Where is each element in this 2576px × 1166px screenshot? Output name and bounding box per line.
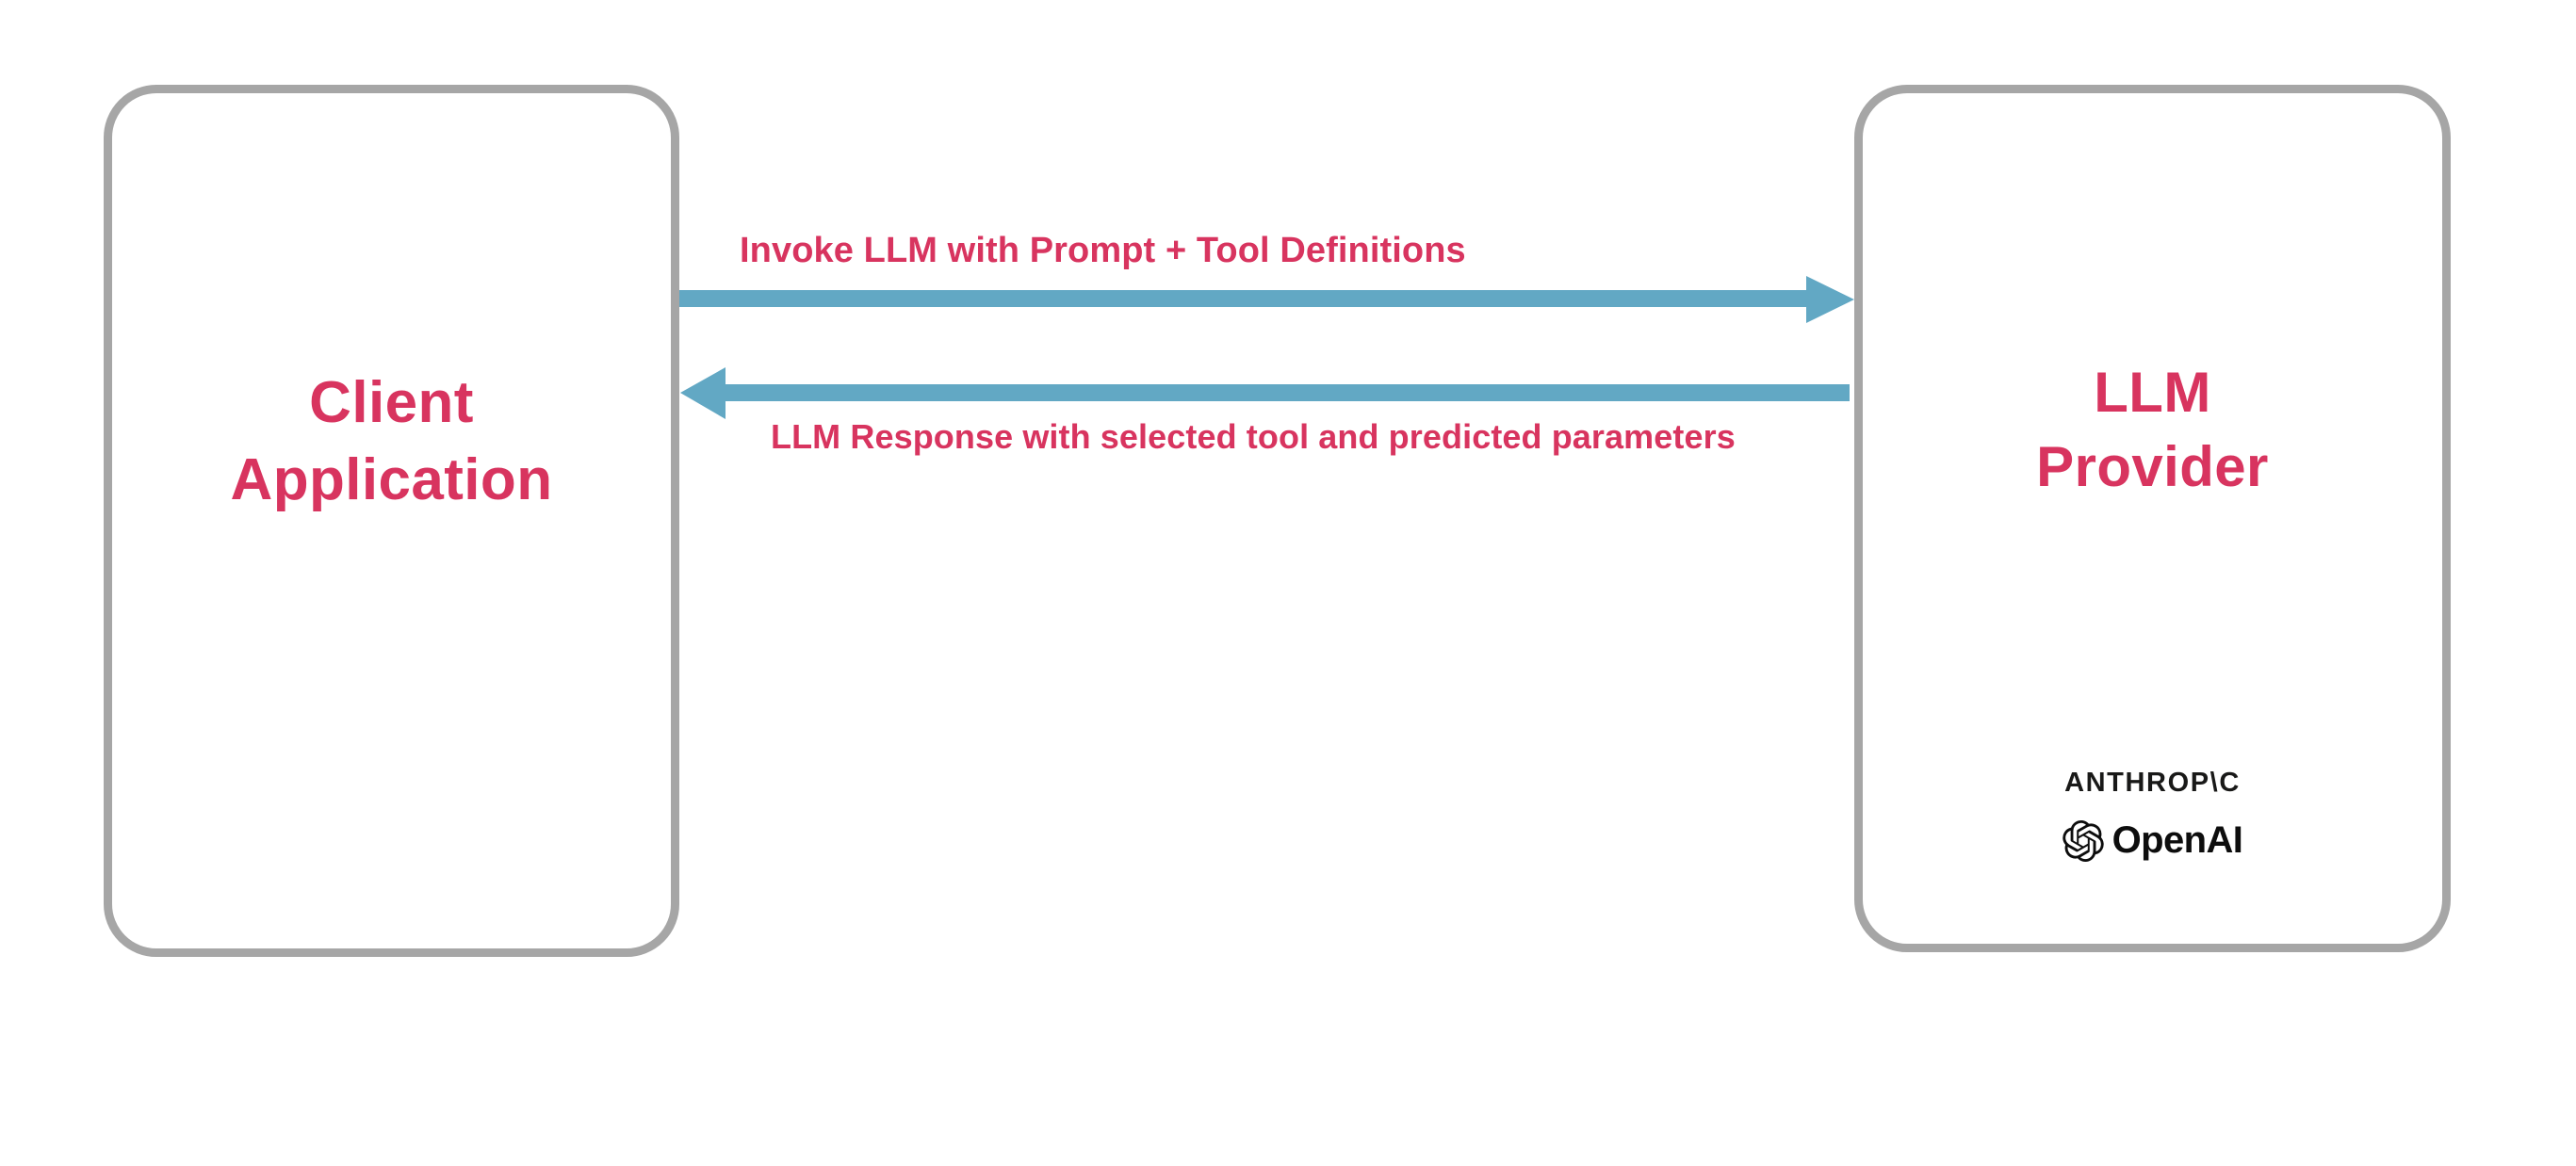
node-llm-provider[interactable]: LLM Provider ANTHROP\C OpenAI (1854, 85, 2451, 952)
node-client-application[interactable]: Client Application (104, 85, 679, 957)
openai-mark-icon (2062, 820, 2104, 862)
node-llm-provider-label: LLM Provider (1863, 355, 2442, 504)
openai-logo: OpenAI (2062, 819, 2243, 862)
diagram-canvas: Client Application LLM Provider ANTHROP\… (0, 0, 2576, 1166)
edge-label-request: Invoke LLM with Prompt + Tool Definition… (740, 231, 1466, 271)
provider-brand-list: ANTHROP\C OpenAI (1863, 768, 2442, 862)
arrow-response (680, 367, 1850, 419)
node-client-application-label: Client Application (112, 364, 671, 519)
openai-wordmark: OpenAI (2112, 819, 2243, 862)
arrow-request (677, 276, 1854, 323)
edge-label-response: LLM Response with selected tool and pred… (771, 417, 1736, 457)
anthropic-logo: ANTHROP\C (2064, 768, 2241, 799)
